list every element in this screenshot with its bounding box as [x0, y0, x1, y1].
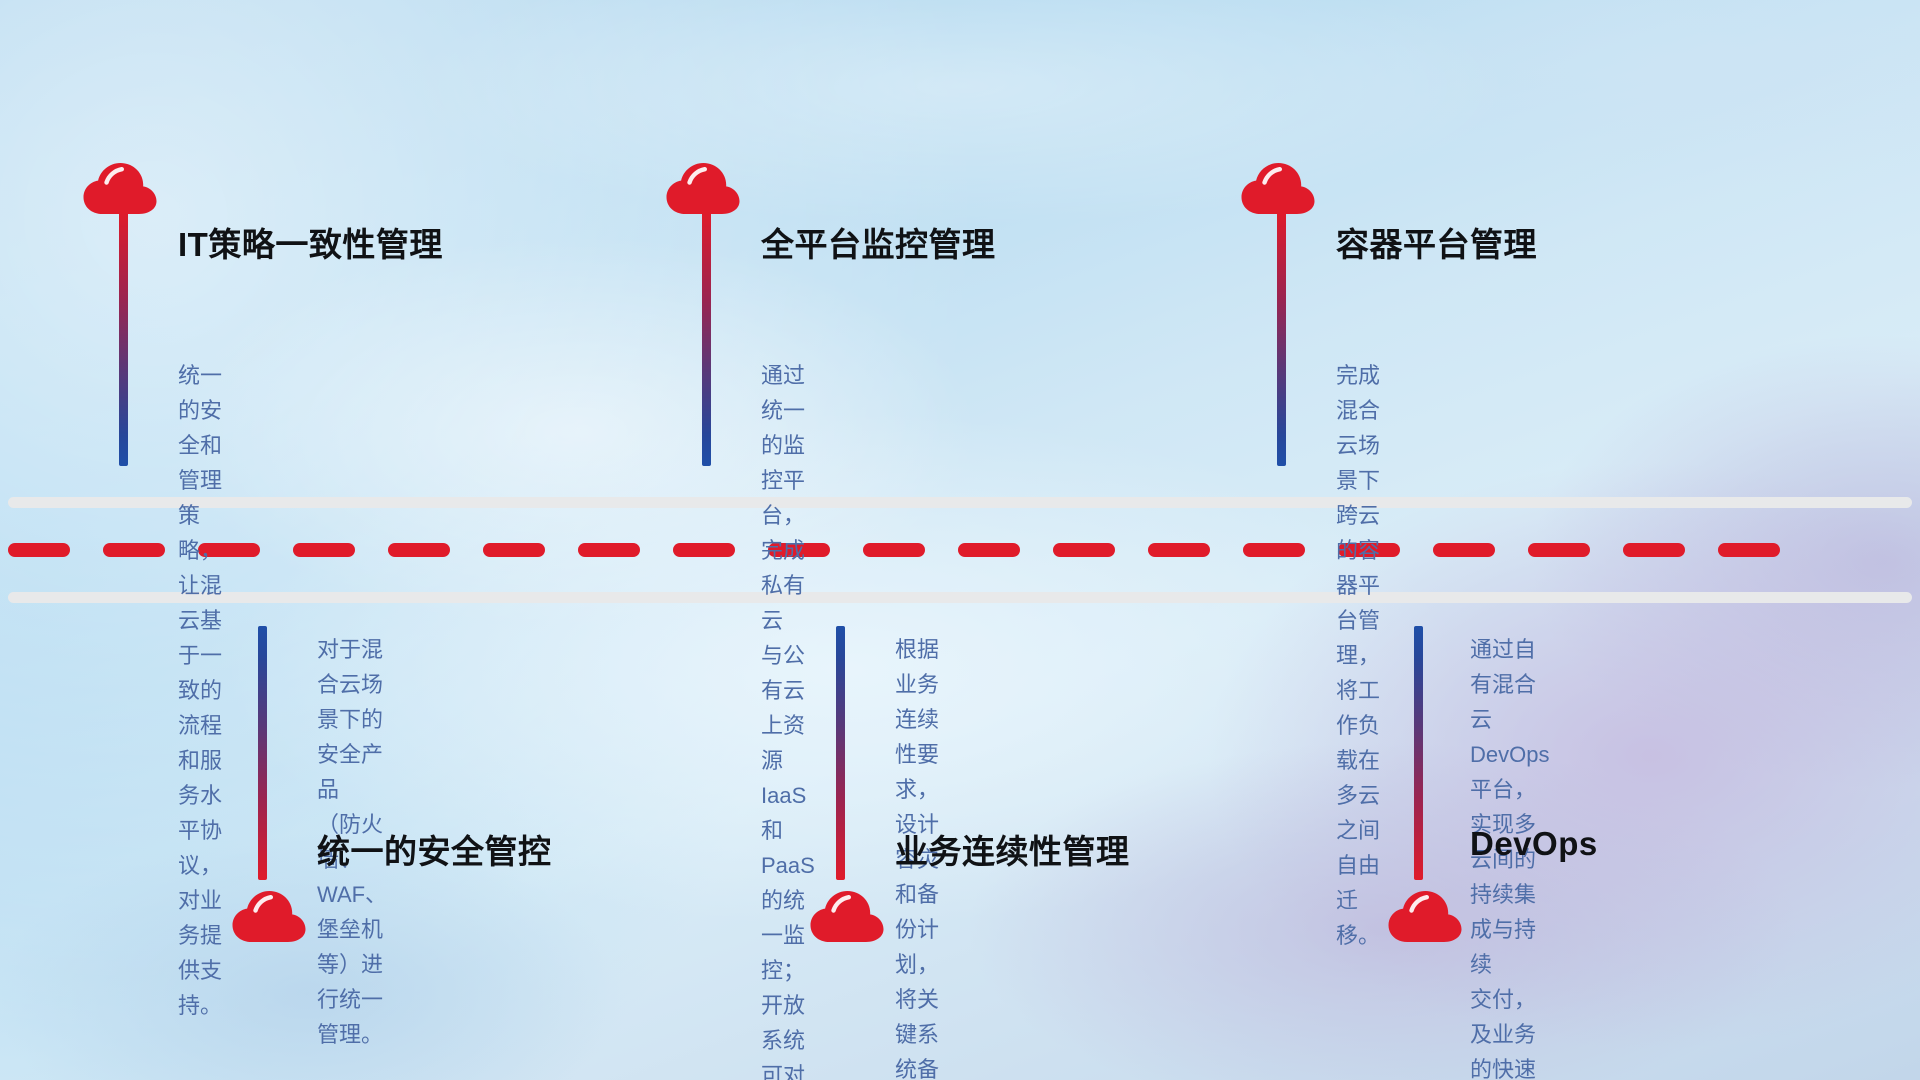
card-title: 全平台监控管理	[761, 218, 996, 266]
connector-pole	[702, 212, 711, 466]
card-title: DevOps	[1470, 825, 1598, 863]
road-dash	[1718, 543, 1780, 557]
cloud-icon	[1240, 160, 1316, 216]
road-dash	[1528, 543, 1590, 557]
road-dash	[388, 543, 450, 557]
road-dash	[483, 543, 545, 557]
road-dash	[863, 543, 925, 557]
cloud-icon	[665, 160, 741, 216]
card-description: 统一的安全和管理策略，让混 云基于一致的流程和服务水平协 议，对业务提供支持。	[178, 358, 222, 1023]
connector-pole	[836, 626, 845, 880]
road-dash	[1148, 543, 1210, 557]
road-dash	[958, 543, 1020, 557]
road-dash	[293, 543, 355, 557]
road-rail-top	[8, 497, 1912, 508]
connector-pole	[1414, 626, 1423, 880]
connector-pole	[258, 626, 267, 880]
cloud-icon	[82, 160, 158, 216]
card-title: IT策略一致性管理	[178, 218, 443, 266]
road-dash	[8, 543, 70, 557]
road-dash	[578, 543, 640, 557]
infographic-canvas: IT策略一致性管理 统一的安全和管理策略，让混 云基于一致的流程和服务水平协 议…	[0, 0, 1920, 1080]
road-center-dashes	[0, 543, 1920, 557]
road-dash	[1433, 543, 1495, 557]
road-dash	[1623, 543, 1685, 557]
road-dash	[673, 543, 735, 557]
card-description: 通过统一的监控平台，完成私有云 与公有云上资源IaaS和PaaS的统 一监控；开…	[761, 358, 815, 1080]
road-dash	[1053, 543, 1115, 557]
cloud-icon	[1387, 888, 1463, 944]
cloud-icon	[231, 888, 307, 944]
road-rail-bottom	[8, 592, 1912, 603]
card-title: 容器平台管理	[1336, 218, 1537, 266]
connector-pole	[119, 212, 128, 466]
road-dash	[1243, 543, 1305, 557]
card-description: 完成混合云场景下跨云的容器平 台管理，将工作负载在多云之间 自由迁移。	[1336, 358, 1380, 953]
cloud-icon	[809, 888, 885, 944]
road-dash	[103, 543, 165, 557]
card-title: 业务连续性管理	[895, 825, 1130, 873]
card-title: 统一的安全管控	[317, 825, 552, 873]
connector-pole	[1277, 212, 1286, 466]
